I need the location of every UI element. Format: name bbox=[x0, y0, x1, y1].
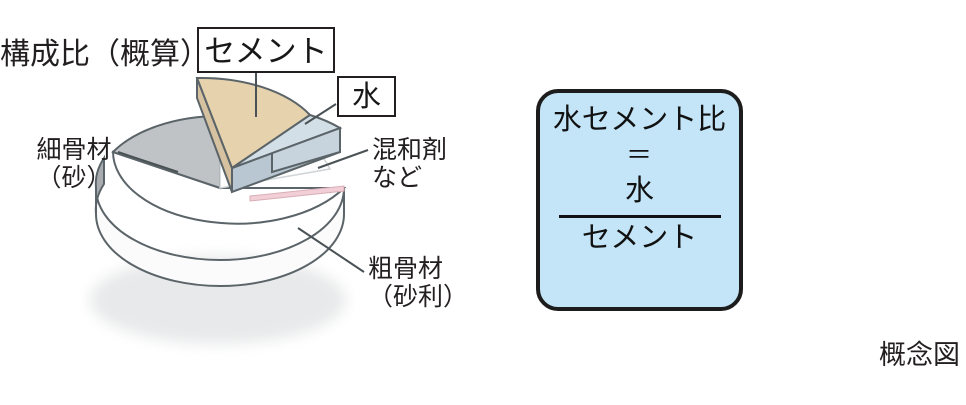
label-admixture-line2: など bbox=[372, 165, 447, 193]
label-cement: セメント bbox=[197, 27, 335, 73]
label-admixture-line1: 混和剤 bbox=[372, 137, 447, 165]
formula-numerator: 水 bbox=[625, 175, 654, 208]
formula-fraction: 水 セメント bbox=[559, 175, 721, 255]
label-fine-aggregate-line2: （砂） bbox=[14, 165, 134, 193]
label-coarse-aggregate: 粗骨材 （砂利） bbox=[368, 256, 468, 312]
formula-title: 水セメント比 bbox=[553, 105, 726, 135]
diagram-canvas: 構成比（概算） bbox=[0, 0, 966, 400]
label-fine-aggregate-line1: 細骨材 bbox=[14, 137, 134, 165]
figure-caption: 概念図 bbox=[879, 333, 960, 372]
label-fine-aggregate: 細骨材 （砂） bbox=[14, 137, 134, 193]
formula-denominator: セメント bbox=[582, 222, 697, 255]
water-cement-ratio-formula-box: 水セメント比 ＝ 水 セメント bbox=[536, 89, 743, 311]
formula-fraction-bar bbox=[559, 215, 721, 218]
label-water: 水 bbox=[337, 76, 396, 117]
label-coarse-aggregate-line2: （砂利） bbox=[368, 284, 468, 312]
label-admixture: 混和剤 など bbox=[372, 137, 447, 193]
formula-equals-sign: ＝ bbox=[626, 143, 653, 169]
label-coarse-aggregate-line1: 粗骨材 bbox=[368, 256, 468, 284]
